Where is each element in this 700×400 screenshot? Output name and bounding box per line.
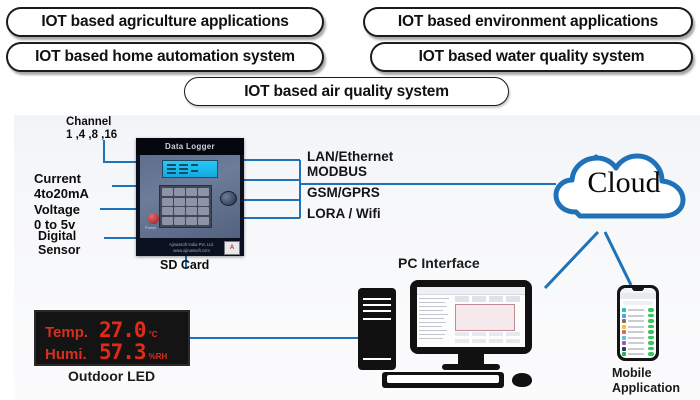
keypad-key[interactable]	[174, 188, 185, 196]
list-icon	[622, 341, 626, 345]
label-digital-sensor: Digital Sensor	[38, 229, 80, 257]
monitor-base	[442, 364, 500, 370]
logger-header: Data Logger	[136, 138, 244, 155]
list-icon	[622, 314, 626, 318]
led-temp-unit: °C	[149, 330, 158, 339]
phone-list-item[interactable]	[622, 341, 654, 345]
keypad-key[interactable]	[162, 198, 173, 206]
keyboard-icon	[382, 372, 504, 388]
toggle-switch[interactable]	[648, 325, 654, 328]
keypad-key[interactable]	[198, 207, 209, 215]
power-led-icon	[148, 213, 159, 224]
toggle-switch[interactable]	[648, 336, 654, 339]
keypad-key[interactable]	[174, 207, 185, 215]
list-icon	[622, 352, 626, 356]
power-label: Power	[145, 225, 156, 230]
keypad[interactable]	[159, 185, 212, 228]
label-channel: Channel 1 ,4 ,8 ,16	[66, 116, 117, 142]
led-humidity-row: Humi. 57.3 %RH	[45, 340, 167, 364]
pc-tower-icon	[358, 288, 396, 370]
phone-list-item[interactable]	[622, 325, 654, 329]
monitor-stand	[458, 354, 484, 364]
keypad-key[interactable]	[186, 207, 197, 215]
keypad-key[interactable]	[186, 217, 197, 225]
toggle-switch[interactable]	[648, 341, 654, 344]
outdoor-led-display: Temp. 27.0 °C Humi. 57.3 %RH	[34, 310, 190, 366]
brand-text: Ajinassoft India Pvt. Ltd. www.ajinassof…	[164, 242, 219, 255]
brand-logo-icon: A	[224, 241, 240, 255]
logger-footer: Ajinassoft India Pvt. Ltd. www.ajinassof…	[136, 238, 244, 256]
list-icon	[622, 330, 626, 334]
led-humi-value: 57.3	[99, 340, 146, 364]
label-voltage: Voltage 0 to 5v	[34, 203, 80, 232]
keypad-key[interactable]	[186, 198, 197, 206]
toggle-switch[interactable]	[648, 319, 654, 322]
keypad-key[interactable]	[198, 188, 209, 196]
toggle-switch[interactable]	[648, 352, 654, 355]
keypad-key[interactable]	[162, 207, 173, 215]
cloud-label: Cloud	[566, 165, 682, 201]
keypad-key[interactable]	[174, 217, 185, 225]
list-icon	[622, 308, 626, 312]
keypad-key[interactable]	[162, 217, 173, 225]
logger-title: Data Logger	[165, 142, 215, 151]
label-gsm-gprs: GSM/GPRS	[307, 185, 380, 200]
phone-list-item[interactable]	[622, 314, 654, 318]
keypad-key[interactable]	[198, 217, 209, 225]
highlighted-data-region	[455, 304, 515, 331]
status-indicator-icon	[220, 191, 237, 206]
phone-list-item[interactable]	[622, 336, 654, 340]
label-lora-wifi: LORA / Wifi	[307, 206, 381, 221]
label-lan-modbus: LAN/Ethernet MODBUS	[307, 149, 393, 179]
lcd-screen	[162, 160, 218, 178]
led-humi-label: Humi.	[45, 346, 97, 363]
led-temperature-row: Temp. 27.0 °C	[45, 318, 158, 342]
list-icon	[622, 319, 626, 323]
phone-list-item[interactable]	[622, 308, 654, 312]
screen-toolbar	[417, 287, 525, 295]
list-icon	[622, 336, 626, 340]
logger-front-panel: Power	[140, 155, 240, 238]
label-pc-interface: PC Interface	[398, 256, 480, 272]
led-temp-label: Temp.	[45, 324, 97, 341]
toggle-switch[interactable]	[648, 347, 654, 350]
phone-list-item[interactable]	[622, 330, 654, 334]
phone-notch	[632, 288, 644, 291]
label-sd-card: SD Card	[160, 258, 209, 272]
desktop-computer-icon	[358, 280, 558, 392]
list-icon	[622, 347, 626, 351]
label-mobile-application: Mobile Application	[612, 366, 680, 396]
data-logger-device[interactable]: Data Logger	[136, 138, 244, 256]
phone-search-field[interactable]	[623, 301, 653, 305]
phone-list-item[interactable]	[622, 347, 654, 351]
label-outdoor-led: Outdoor LED	[68, 369, 155, 385]
mouse-icon	[512, 373, 532, 387]
toggle-switch[interactable]	[648, 314, 654, 317]
keypad-key[interactable]	[174, 198, 185, 206]
keypad-key[interactable]	[186, 188, 197, 196]
monitor-screen	[417, 287, 525, 347]
keypad-key[interactable]	[162, 188, 173, 196]
keypad-key[interactable]	[198, 198, 209, 206]
toggle-switch[interactable]	[648, 308, 654, 311]
phone-list-item[interactable]	[622, 352, 654, 356]
list-icon	[622, 325, 626, 329]
monitor-icon	[410, 280, 532, 354]
phone-app-bar	[620, 293, 656, 299]
phone-list-item[interactable]	[622, 319, 654, 323]
led-humi-unit: %RH	[149, 352, 168, 361]
label-current: Current 4to20mA	[34, 172, 89, 201]
mobile-phone-icon	[617, 285, 659, 361]
phone-screen	[620, 288, 656, 358]
led-temp-value: 27.0	[99, 318, 146, 342]
diagram-root: IOT based agriculture applications IOT b…	[0, 0, 700, 400]
toggle-switch[interactable]	[648, 330, 654, 333]
